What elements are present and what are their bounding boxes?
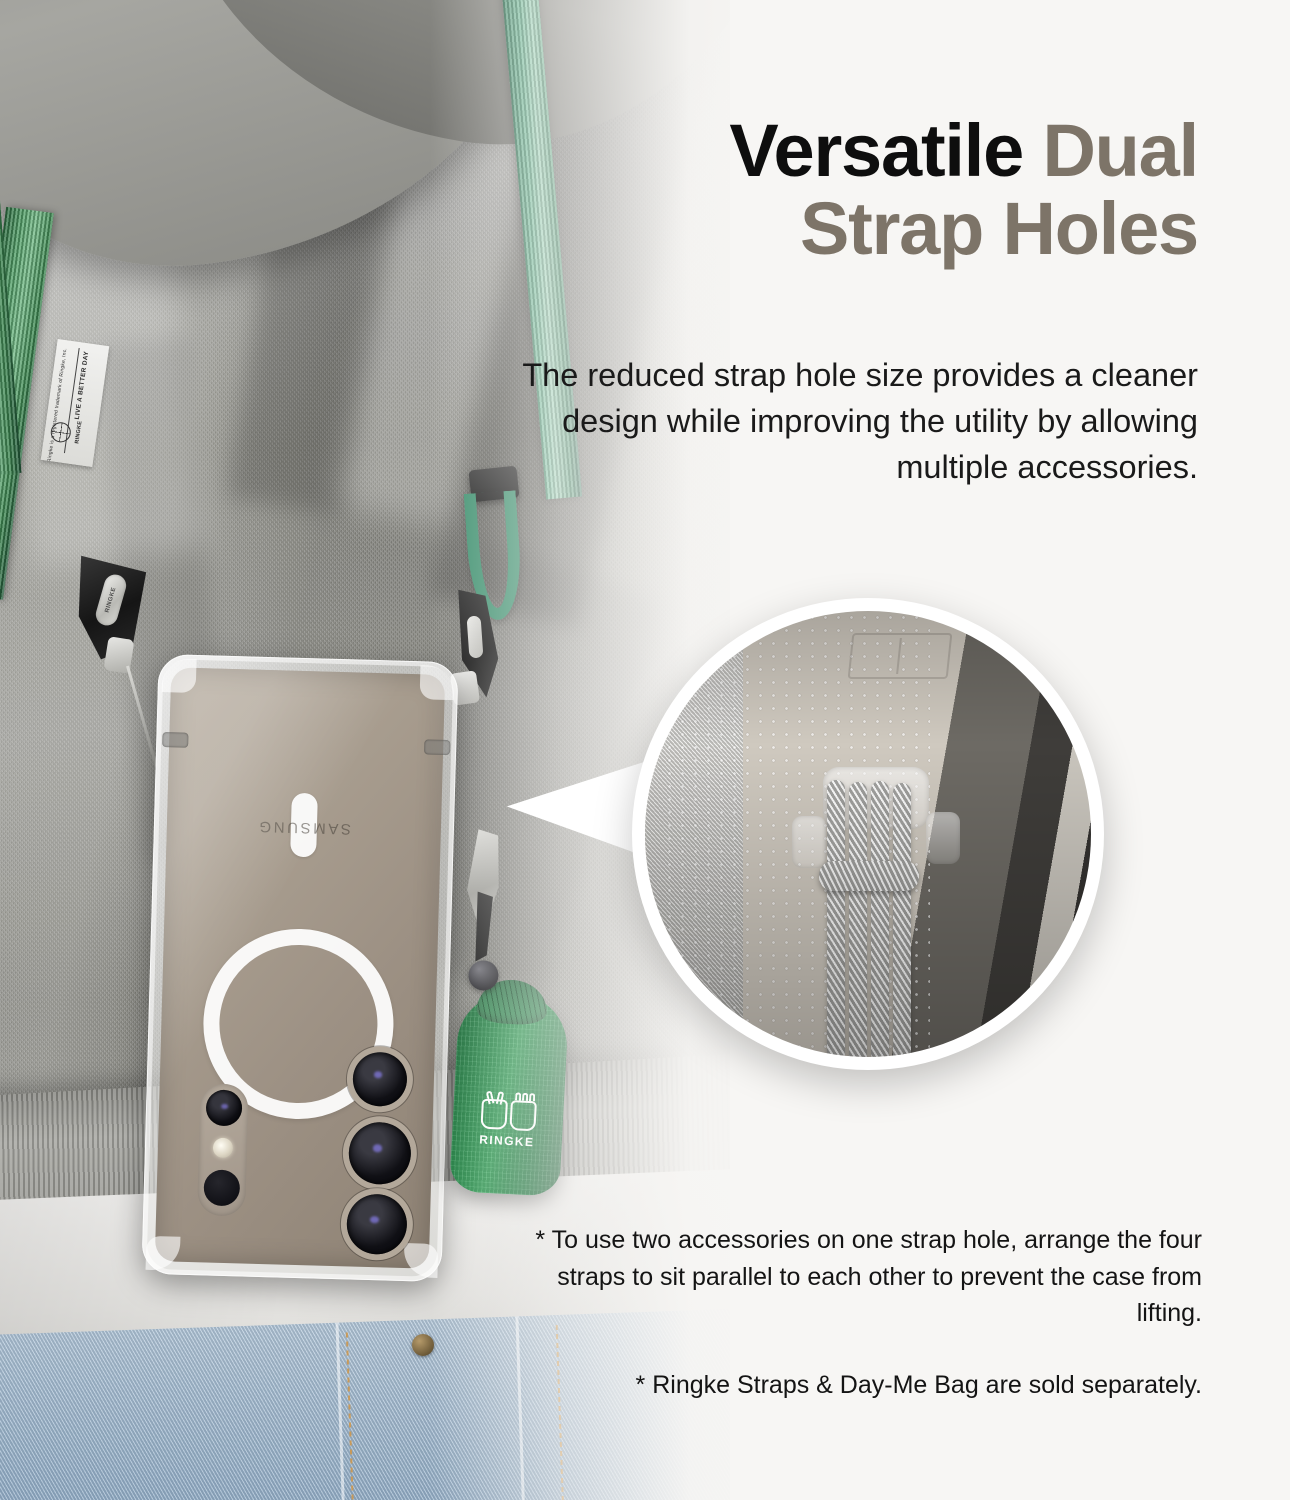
camera-lens-small — [206, 1089, 243, 1126]
lens-glare — [221, 1104, 228, 1109]
ringke-metal-plate-right — [467, 616, 484, 659]
headline-line-2: Strap Holes — [800, 187, 1198, 270]
plate-brand-text: RINGKE — [104, 587, 117, 614]
tag-slogan: LIVE A BETTER DAY — [73, 351, 92, 421]
denim-twill-texture — [0, 1307, 730, 1500]
denim-rivet — [412, 1334, 434, 1356]
lens-glare — [373, 1072, 382, 1079]
ringke-hand-logo: RINGKE — [466, 1094, 551, 1150]
finger — [514, 1092, 520, 1100]
lead-paragraph: The reduced strap hole size provides a c… — [498, 352, 1198, 490]
camera-sensor — [203, 1169, 240, 1206]
phone-with-case: SAMSUNG — [141, 654, 458, 1282]
footnote-sold-separately: * Ringke Straps & Day-Me Bag are sold se… — [442, 1368, 1202, 1403]
marketing-image: Designed by Ringke, Inc. Made in Vietnam… — [0, 0, 1290, 1500]
ringke-day-me-bag: RINGKE — [449, 965, 571, 1195]
finger — [521, 1093, 527, 1101]
closeup-shading — [645, 611, 1091, 1057]
samsung-logo: SAMSUNG — [257, 818, 351, 838]
strap-hole-left — [162, 732, 188, 748]
finger — [528, 1093, 534, 1101]
denim-jeans — [0, 1307, 730, 1500]
strap-hole-right — [424, 739, 450, 755]
peace-hand-icon — [480, 1099, 508, 1130]
footnote-usage: * To use two accessories on one strap ho… — [522, 1222, 1202, 1332]
case-pill-marker — [290, 793, 318, 858]
closeup-photo — [645, 611, 1091, 1057]
page-title: Versatile Dual Strap Holes — [458, 112, 1198, 269]
fist-hand-icon — [509, 1100, 537, 1131]
headline-accent: Dual — [1042, 109, 1198, 192]
camera-aux-module — [197, 1083, 249, 1216]
headline-emphasis: Versatile — [729, 109, 1042, 192]
camera-flash-icon — [213, 1138, 234, 1159]
strap-hole-closeup-callout — [632, 598, 1104, 1070]
hand-icons — [466, 1094, 550, 1132]
tag-brand: RINGKE — [73, 420, 84, 444]
lens-glare — [372, 1144, 382, 1152]
lens-glare — [370, 1216, 380, 1223]
